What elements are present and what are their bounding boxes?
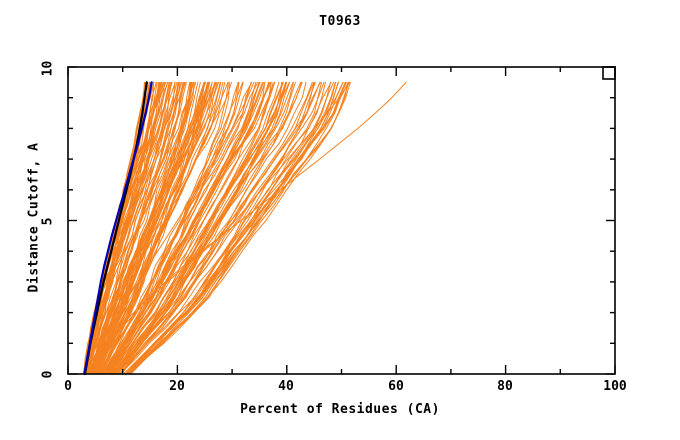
plot-area bbox=[0, 0, 680, 440]
chart-container: T0963 Distance Cutoff, A Percent of Resi… bbox=[0, 0, 680, 440]
data-curves-ensemble bbox=[83, 82, 406, 374]
